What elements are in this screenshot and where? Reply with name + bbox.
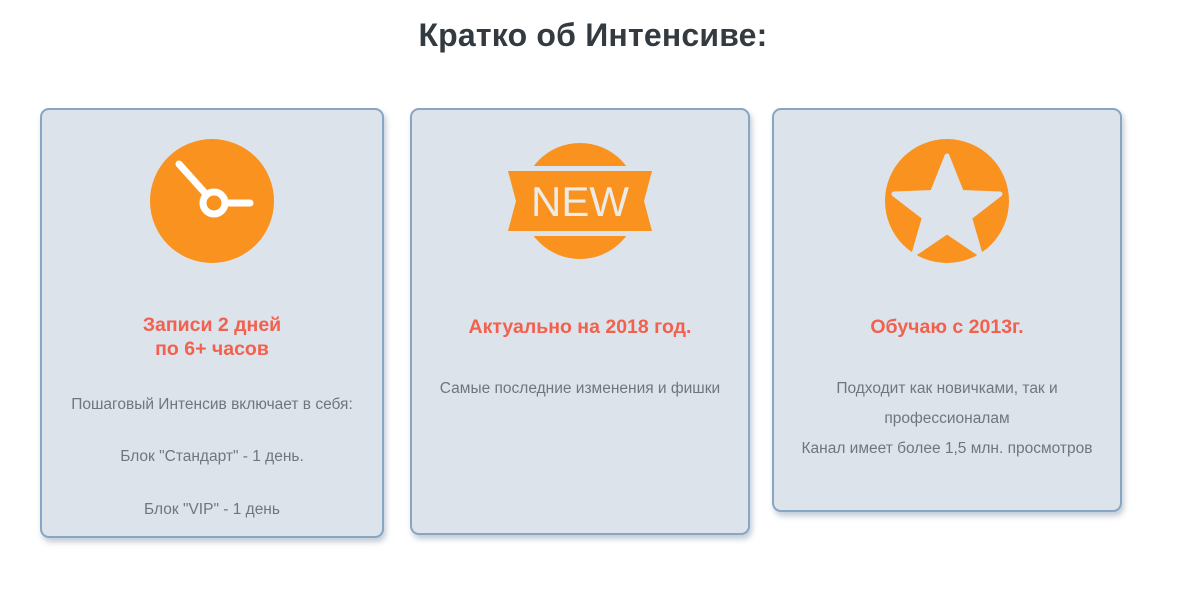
card-heading-line-1: Актуально на 2018 год. <box>428 315 732 339</box>
card-body-text-2: Канал имеет более 1,5 млн. просмотров <box>774 434 1120 464</box>
feature-card-grid: Записи 2 дней по 6+ часов Пошаговый Инте… <box>40 108 1122 548</box>
page-root: Кратко об Интенсиве: Записи 2 дней по 6+… <box>0 0 1186 600</box>
card-heading-line-1: Обучаю с 2013г. <box>790 315 1104 339</box>
card-heading: Записи 2 дней по 6+ часов <box>42 313 382 361</box>
new-badge-label: NEW <box>531 178 629 225</box>
feature-card-actual-2018[interactable]: NEW Актуально на 2018 год. Самые последн… <box>410 108 750 535</box>
card-body-text-1: Самые последние изменения и фишки <box>412 374 748 404</box>
new-badge-icon-svg: NEW <box>502 137 658 265</box>
star-icon <box>774 110 1120 260</box>
card-body-text-3: Блок "VIP" - 1 день <box>42 495 382 525</box>
card-body-text-1: Подходит как новичками, так и профессион… <box>774 374 1120 434</box>
clock-icon <box>42 110 382 260</box>
card-heading: Обучаю с 2013г. <box>774 315 1120 339</box>
feature-card-records[interactable]: Записи 2 дней по 6+ часов Пошаговый Инте… <box>40 108 384 538</box>
card-heading-line-2: по 6+ часов <box>58 337 366 361</box>
card-body-text-2: Блок "Стандарт" - 1 день. <box>42 442 382 472</box>
card-body-text-1: Пошаговый Интенсив включает в себя: <box>42 390 382 420</box>
card-heading-line-1: Записи 2 дней <box>58 313 366 337</box>
star-icon-svg <box>885 139 1009 263</box>
card-heading: Актуально на 2018 год. <box>412 315 748 339</box>
feature-card-teaching-since-2013[interactable]: Обучаю с 2013г. Подходит как новичками, … <box>772 108 1122 512</box>
clock-icon-svg <box>150 139 274 263</box>
page-title: Кратко об Интенсиве: <box>0 17 1186 54</box>
new-badge-icon: NEW <box>412 110 748 260</box>
